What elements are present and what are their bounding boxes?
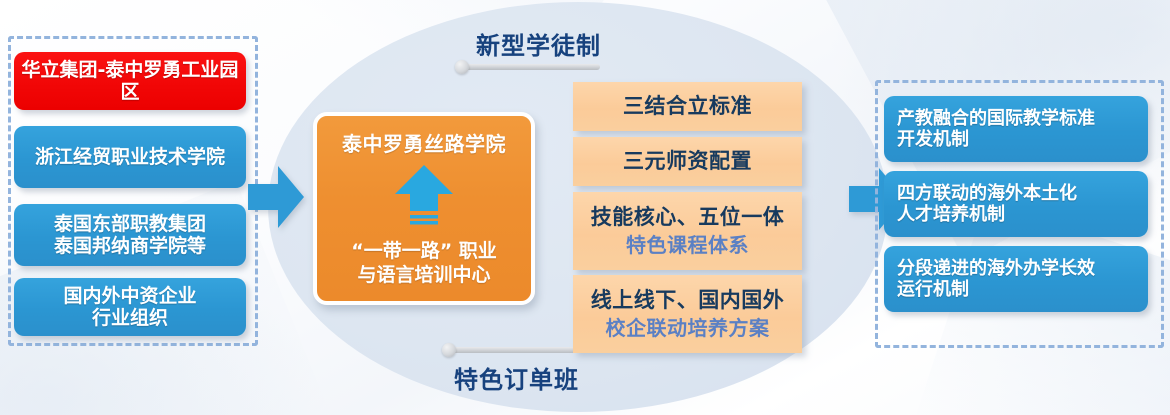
middle-bar-line1: 技能核心、五位一体: [591, 205, 785, 229]
middle-bar-line1: 三结合立标准: [623, 94, 752, 118]
callout-bottom-label: 特色订单班: [454, 360, 579, 395]
center-card-subtitle: “一带一路” 职业 与语言培训中心: [351, 240, 497, 288]
right-item-teaching-standard-mechanism[interactable]: 产教融合的国际教学标准 开发机制: [884, 96, 1148, 162]
center-card-silk-road-college[interactable]: 泰中罗勇丝路学院 “一带一路” 职业 与语言培训中心: [313, 112, 535, 305]
right-item-label-line2: 运行机制: [897, 279, 969, 300]
right-item-label-line1: 分段递进的海外办学长效: [897, 258, 1095, 279]
up-arrow-icon: [393, 163, 455, 233]
right-item-label-line2: 人才培养机制: [897, 204, 1005, 225]
callout-top-connector-line: [460, 64, 600, 70]
left-item-label-line2: 泰国邦纳商学院等: [54, 235, 206, 257]
right-item-label-line1: 产教融合的国际教学标准: [897, 108, 1095, 129]
center-card-title: 泰中罗勇丝路学院: [342, 128, 506, 157]
left-item-label-line1: 国内外中资企业: [63, 285, 196, 307]
callout-bottom-connector-dot: [442, 343, 456, 357]
left-item-label-line1: 泰国东部职教集团: [54, 213, 206, 235]
right-item-talent-cultivation-mechanism[interactable]: 四方联动的海外本土化 人才培养机制: [884, 171, 1148, 237]
middle-bar-online-offline-training[interactable]: 线上线下、国内国外 校企联动培养方案: [573, 275, 802, 353]
middle-bar-line2: 校企联动培养方案: [606, 317, 770, 340]
left-item-label: 浙江经贸职业技术学院: [35, 146, 225, 168]
middle-bar-line2: 特色课程体系: [626, 234, 749, 257]
left-item-label: 华立集团-泰中罗勇工业园区: [14, 59, 246, 104]
center-card-subtitle-line1: “一带一路” 职业: [351, 240, 497, 264]
right-item-overseas-operation-mechanism[interactable]: 分段递进的海外办学长效 运行机制: [884, 246, 1148, 312]
left-item-label-line2: 行业组织: [92, 307, 168, 329]
middle-bar-skill-core-curriculum[interactable]: 技能核心、五位一体 特色课程体系: [573, 192, 802, 270]
center-card-subtitle-line2: 与语言培训中心: [351, 264, 497, 288]
middle-bar-ternary-faculty[interactable]: 三元师资配置: [573, 137, 802, 186]
callout-top-label: 新型学徒制: [476, 26, 601, 61]
left-item-huali-industrial-park[interactable]: 华立集团-泰中罗勇工业园区: [14, 52, 246, 110]
left-item-chinese-enterprises[interactable]: 国内外中资企业 行业组织: [14, 278, 246, 336]
callout-bottom-connector-line: [447, 347, 587, 353]
middle-bar-line1: 线上线下、国内国外: [591, 288, 785, 312]
middle-bar-line1: 三元师资配置: [623, 149, 752, 173]
right-item-label-line2: 开发机制: [897, 129, 969, 150]
middle-bar-three-combination-standard[interactable]: 三结合立标准: [573, 82, 802, 131]
flow-arrow-left-to-center: [248, 166, 304, 228]
left-item-zhejiang-institute[interactable]: 浙江经贸职业技术学院: [14, 126, 246, 188]
right-item-label-line1: 四方联动的海外本土化: [897, 183, 1077, 204]
left-item-thai-vocational-group[interactable]: 泰国东部职教集团 泰国邦纳商学院等: [14, 204, 246, 266]
callout-top-connector-dot: [455, 60, 469, 74]
diagram-canvas: 华立集团-泰中罗勇工业园区 浙江经贸职业技术学院 泰国东部职教集团 泰国邦纳商学…: [0, 0, 1170, 415]
